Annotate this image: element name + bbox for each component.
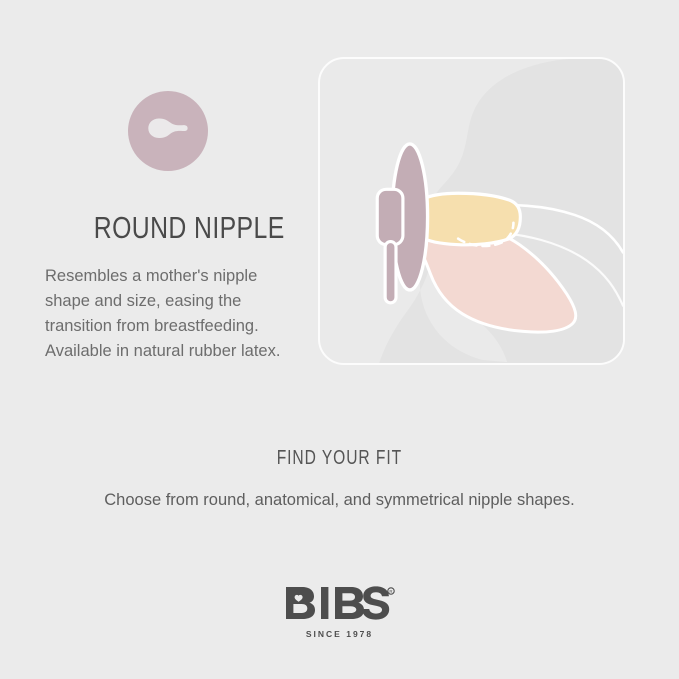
brand-logo: R SINCE 1978	[0, 586, 679, 639]
pacifier-in-mouth-illustration	[318, 57, 625, 365]
feature-description: Resembles a mother's nipple shape and si…	[45, 264, 295, 364]
registered-trademark-icon: R	[387, 588, 393, 594]
find-your-fit-subtext: Choose from round, anatomical, and symme…	[0, 491, 679, 510]
find-your-fit-heading: FIND YOUR FIT	[0, 447, 679, 470]
brand-tagline: SINCE 1978	[0, 629, 679, 639]
find-your-fit-heading-text: FIND YOUR FIT	[277, 447, 402, 470]
feature-column: ROUND NIPPLE Resembles a mother's nipple…	[45, 80, 300, 364]
feature-title: ROUND NIPPLE	[45, 212, 249, 245]
round-nipple-shape-icon	[128, 91, 208, 171]
product-feature-panel: ROUND NIPPLE Resembles a mother's nipple…	[0, 0, 679, 679]
bibs-wordmark-icon: R	[284, 586, 396, 620]
svg-text:R: R	[389, 589, 392, 594]
pacifier-nipple-shape	[416, 193, 521, 246]
